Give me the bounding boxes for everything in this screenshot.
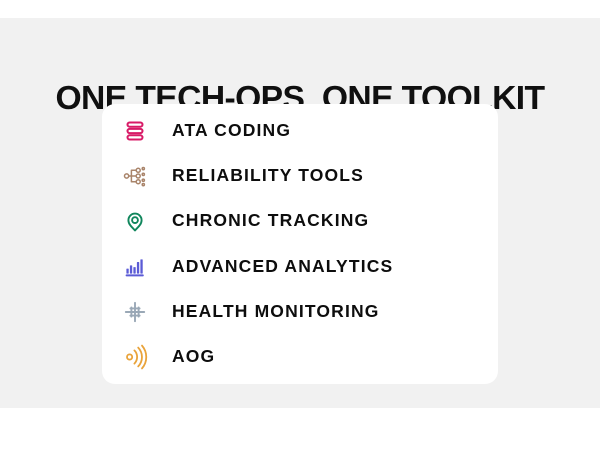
medical-cross-icon <box>120 297 150 327</box>
list-item[interactable]: CHRONIC TRACKING <box>120 204 480 238</box>
feature-label: CHRONIC TRACKING <box>172 212 369 230</box>
feature-label: ATA CODING <box>172 122 291 140</box>
feature-label: ADVANCED ANALYTICS <box>172 258 393 276</box>
list-item[interactable]: ADVANCED ANALYTICS <box>120 250 480 284</box>
feature-label: RELIABILITY TOOLS <box>172 167 364 185</box>
feature-card: ATA CODING RELIABILI <box>102 104 498 384</box>
list-item[interactable]: HEALTH MONITORING <box>120 295 480 329</box>
feature-label: AOG <box>172 348 215 366</box>
node-hierarchy-icon <box>120 161 150 191</box>
location-pin-icon <box>120 206 150 236</box>
stacked-layers-icon <box>120 116 150 146</box>
signal-broadcast-icon <box>120 342 150 372</box>
list-item[interactable]: RELIABILITY TOOLS <box>120 159 480 193</box>
slide-canvas: ONE TECH-OPS, ONE TOOLKIT ATA CODING <box>0 0 600 450</box>
feature-list: ATA CODING RELIABILI <box>102 104 498 384</box>
bar-chart-icon <box>120 252 150 282</box>
list-item[interactable]: AOG <box>120 340 480 374</box>
list-item[interactable]: ATA CODING <box>120 114 480 148</box>
feature-label: HEALTH MONITORING <box>172 303 380 321</box>
